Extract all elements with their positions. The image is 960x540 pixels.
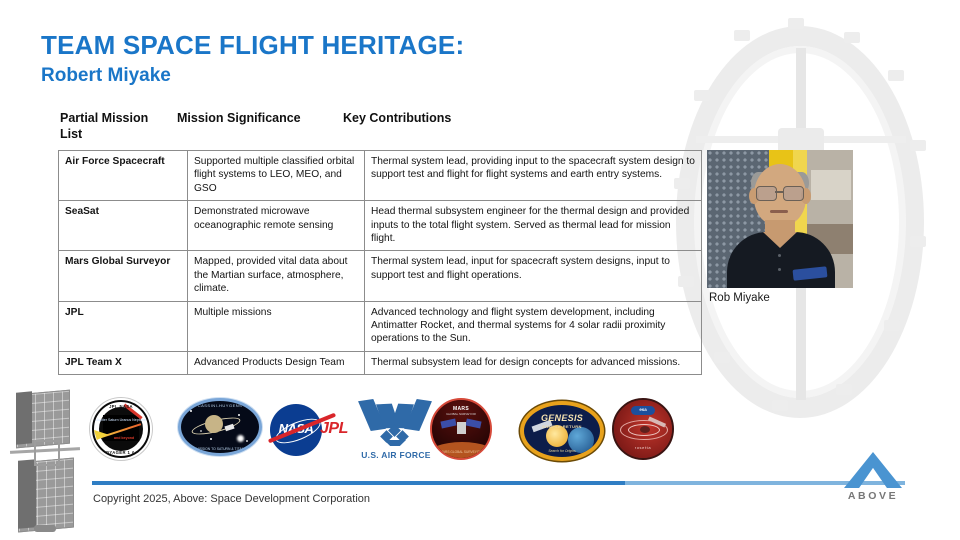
mission-heritage-table: Air Force Spacecraft Supported multiple … [58,150,702,375]
esa-wordmark: esa [631,407,655,412]
cell-significance: Multiple missions [188,301,365,351]
rosetta-esa-logo: esa rosetta [612,398,674,460]
page-subtitle: Robert Miyake [41,65,171,87]
cell-significance: Mapped, provided vital data about the Ma… [188,251,365,301]
table-header-significance: Mission Significance [177,110,335,126]
above-wordmark: ABOVE [840,490,906,502]
voyager-planets-text: Jupiter Saturn Uranus Neptune [92,418,150,423]
copyright-text: Copyright 2025, Above: Space Development… [93,493,370,505]
voyager-tagline: and beyond [114,436,134,440]
slide-canvas: TEAM SPACE FLIGHT HERITAGE: Robert Miyak… [0,0,960,540]
cell-contributions: Advanced technology and flight system de… [365,301,702,351]
cell-contributions: Thermal system lead, providing input to … [365,151,702,201]
voyager-logo: Jupiter Saturn Uranus Neptune and beyond… [90,398,152,460]
jpl-wordmark: JPL [320,420,348,438]
cell-significance: Supported multiple classified orbital fl… [188,151,365,201]
us-air-force-logo: U.S. AIR FORCE [360,400,430,446]
rosetta-wordmark: rosetta [614,445,672,450]
genesis-sample-return-logo: GENESIS SAMPLE RETURN Search for Origins [520,401,604,461]
footer-rule-primary [92,481,625,485]
table-row: Air Force Spacecraft Supported multiple … [59,151,702,201]
cell-contributions: Thermal subsystem lead for design concep… [365,351,702,374]
satellite-graphic [10,392,80,532]
table-row: JPL Multiple missions Advanced technolog… [59,301,702,351]
cell-significance: Demonstrated microwave oceanographic rem… [188,201,365,251]
cell-mission: JPL [59,301,188,351]
nasa-jpl-logo: NASA JPL [270,404,322,456]
cell-contributions: Thermal system lead, input for spacecraf… [365,251,702,301]
voyager-top-text: JPL NASA [92,404,150,409]
cell-significance: Advanced Products Design Team [188,351,365,374]
genesis-footer-text: Search for Origins [524,449,600,453]
mgs-subtitle: GLOBAL SURVEYOR [432,412,490,416]
table-row: JPL Team X Advanced Products Design Team… [59,351,702,374]
cell-contributions: Head thermal subsystem engineer for the … [365,201,702,251]
table-row: Mars Global Surveyor Mapped, provided vi… [59,251,702,301]
genesis-subtitle: SAMPLE RETURN [524,424,600,429]
table-header-contributions: Key Contributions [343,110,563,126]
usaf-label: U.S. AIR FORCE [356,450,436,460]
above-brand-logo: ABOVE [840,452,906,504]
portrait-photo [707,150,853,288]
above-chevron-icon [844,452,902,488]
cassini-huygens-logo: CASSINI-HUYGENS MISSION TO SATURN & TITA… [178,398,262,456]
table-header-row: Partial Mission List Mission Significanc… [58,110,664,148]
cell-mission: Mars Global Surveyor [59,251,188,301]
table-row: SeaSat Demonstrated microwave oceanograp… [59,201,702,251]
cassini-top-text: CASSINI-HUYGENS [181,403,259,408]
mission-logo-strip: Jupiter Saturn Uranus Neptune and beyond… [90,398,670,460]
cassini-bottom-text: MISSION TO SATURN & TITAN [181,447,259,451]
page-title: TEAM SPACE FLIGHT HERITAGE: [41,30,464,61]
mars-global-surveyor-logo: MARS GLOBAL SURVEYOR MARS GLOBAL SURVEYO… [430,398,492,460]
genesis-title: GENESIS [524,413,600,423]
table-header-mission: Partial Mission List [60,110,168,142]
portrait-caption: Rob Miyake [709,292,770,304]
cell-mission: Air Force Spacecraft [59,151,188,201]
voyager-bottom-text: VOYAGER 1 & 2 [92,450,150,455]
cell-mission: JPL Team X [59,351,188,374]
mgs-footer-text: MARS GLOBAL SURVEYOR [432,450,490,454]
cell-mission: SeaSat [59,201,188,251]
